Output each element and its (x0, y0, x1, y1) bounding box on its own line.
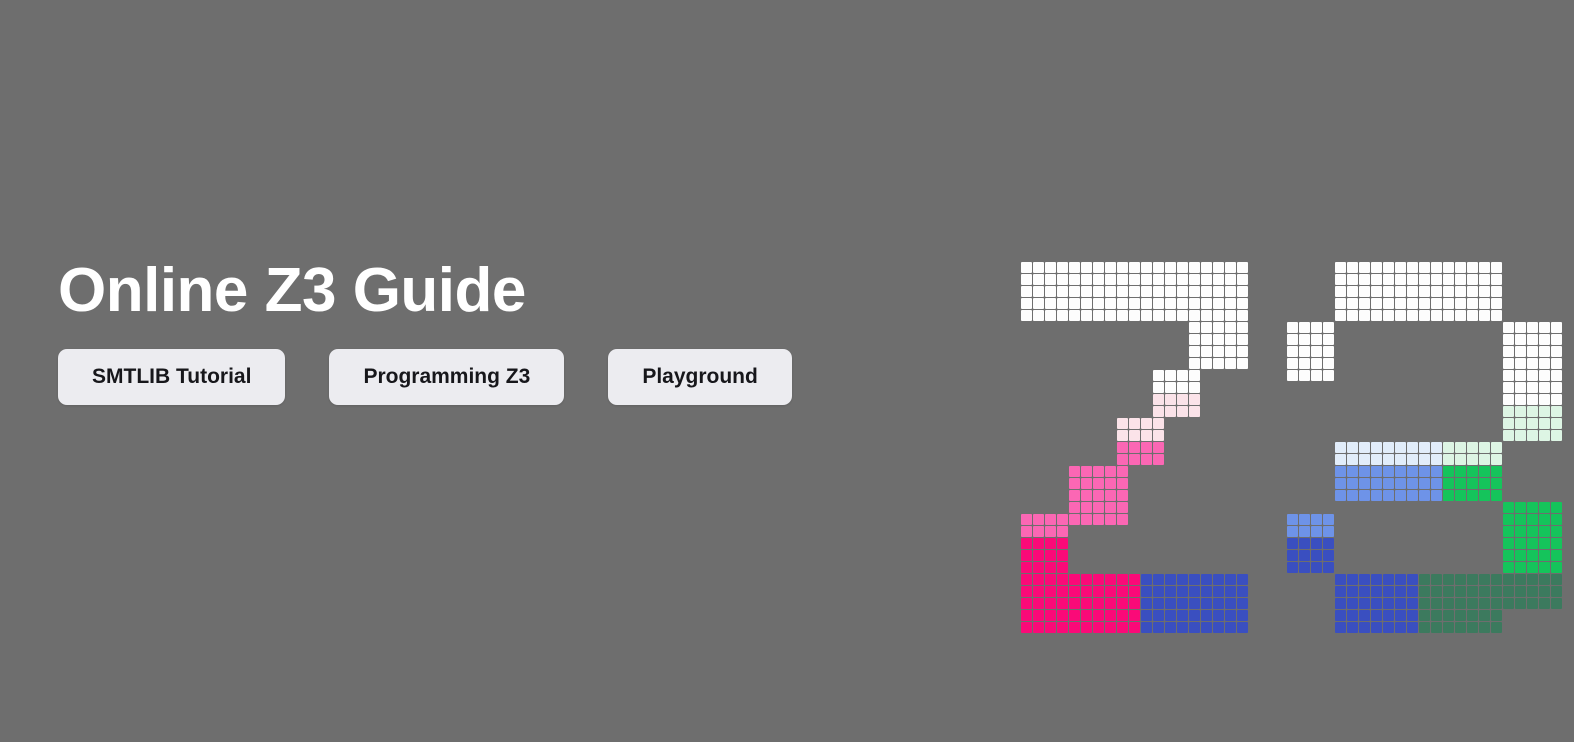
logo-pixel (1117, 586, 1128, 597)
logo-pixel (1141, 298, 1152, 309)
logo-pixel (1371, 490, 1382, 501)
logo-pixel (1033, 550, 1044, 561)
logo-pixel (1237, 322, 1248, 333)
logo-pixel (1527, 394, 1538, 405)
logo-pixel (1189, 322, 1200, 333)
logo-pixel (1129, 310, 1140, 321)
logo-pixel (1141, 442, 1152, 453)
logo-pixel (1467, 274, 1478, 285)
logo-pixel (1225, 610, 1236, 621)
logo-pixel (1515, 598, 1526, 609)
logo-pixel (1153, 262, 1164, 273)
logo-pixel (1395, 490, 1406, 501)
logo-pixel (1503, 430, 1514, 441)
logo-pixel (1299, 562, 1310, 573)
logo-pixel (1419, 622, 1430, 633)
logo-pixel (1395, 454, 1406, 465)
logo-pixel (1287, 526, 1298, 537)
logo-pixel (1371, 598, 1382, 609)
logo-pixel (1395, 598, 1406, 609)
logo-pixel (1237, 610, 1248, 621)
logo-pixel (1551, 514, 1562, 525)
logo-pixel (1081, 478, 1092, 489)
logo-pixel (1347, 610, 1358, 621)
logo-pixel (1551, 418, 1562, 429)
logo-pixel (1335, 598, 1346, 609)
logo-pixel (1503, 382, 1514, 393)
logo-pixel (1407, 310, 1418, 321)
logo-pixel (1335, 466, 1346, 477)
logo-pixel (1347, 466, 1358, 477)
hero-text-block: Online Z3 Guide SMTLIB TutorialProgrammi… (58, 258, 958, 405)
logo-pixel (1165, 274, 1176, 285)
logo-pixel (1431, 610, 1442, 621)
logo-pixel (1491, 454, 1502, 465)
logo-pixel (1371, 454, 1382, 465)
logo-pixel (1105, 298, 1116, 309)
logo-pixel (1407, 586, 1418, 597)
logo-pixel (1213, 274, 1224, 285)
logo-pixel (1491, 586, 1502, 597)
logo-pixel (1225, 622, 1236, 633)
logo-pixel (1359, 274, 1370, 285)
logo-pixel (1105, 262, 1116, 273)
logo-pixel (1021, 574, 1032, 585)
logo-pixel (1045, 526, 1056, 537)
logo-pixel (1189, 610, 1200, 621)
logo-pixel (1117, 610, 1128, 621)
logo-pixel (1177, 298, 1188, 309)
logo-pixel (1371, 574, 1382, 585)
logo-pixel (1419, 310, 1430, 321)
logo-pixel (1347, 586, 1358, 597)
logo-pixel (1201, 610, 1212, 621)
logo-pixel (1419, 262, 1430, 273)
logo-pixel (1225, 574, 1236, 585)
logo-pixel (1033, 622, 1044, 633)
logo-pixel (1323, 334, 1334, 345)
logo-pixel (1419, 586, 1430, 597)
logo-pixel (1165, 382, 1176, 393)
logo-pixel (1201, 346, 1212, 357)
logo-pixel (1033, 514, 1044, 525)
logo-pixel (1479, 610, 1490, 621)
logo-pixel (1201, 622, 1212, 633)
logo-pixel (1021, 610, 1032, 621)
logo-pixel (1189, 406, 1200, 417)
logo-pixel (1117, 430, 1128, 441)
logo-pixel (1479, 586, 1490, 597)
logo-pixel (1431, 574, 1442, 585)
logo-pixel (1225, 262, 1236, 273)
logo-pixel (1371, 298, 1382, 309)
logo-pixel (1539, 574, 1550, 585)
logo-pixel (1069, 574, 1080, 585)
logo-pixel (1359, 610, 1370, 621)
logo-pixel (1069, 610, 1080, 621)
logo-pixel (1407, 478, 1418, 489)
logo-pixel (1287, 514, 1298, 525)
logo-pixel (1479, 490, 1490, 501)
logo-pixel (1201, 262, 1212, 273)
logo-pixel (1371, 610, 1382, 621)
logo-pixel (1539, 370, 1550, 381)
logo-pixel (1189, 298, 1200, 309)
logo-pixel (1177, 598, 1188, 609)
logo-pixel (1407, 622, 1418, 633)
logo-pixel (1153, 430, 1164, 441)
logo-pixel (1045, 262, 1056, 273)
logo-pixel (1141, 430, 1152, 441)
logo-pixel (1383, 598, 1394, 609)
logo-pixel (1287, 334, 1298, 345)
logo-pixel (1419, 574, 1430, 585)
logo-pixel (1491, 478, 1502, 489)
logo-pixel (1213, 358, 1224, 369)
logo-pixel (1165, 574, 1176, 585)
logo-pixel (1069, 478, 1080, 489)
logo-pixel (1455, 298, 1466, 309)
logo-pixel (1189, 358, 1200, 369)
logo-pixel (1237, 286, 1248, 297)
logo-pixel (1165, 286, 1176, 297)
logo-pixel (1033, 598, 1044, 609)
logo-pixel (1335, 574, 1346, 585)
logo-pixel (1431, 586, 1442, 597)
logo-pixel (1395, 610, 1406, 621)
logo-pixel (1491, 490, 1502, 501)
logo-pixel (1551, 586, 1562, 597)
logo-pixel (1359, 442, 1370, 453)
logo-pixel (1069, 310, 1080, 321)
logo-pixel (1347, 490, 1358, 501)
logo-pixel (1467, 466, 1478, 477)
logo-pixel (1057, 598, 1068, 609)
logo-pixel (1153, 586, 1164, 597)
logo-pixel (1189, 622, 1200, 633)
logo-pixel (1105, 274, 1116, 285)
logo-pixel (1225, 346, 1236, 357)
logo-pixel (1237, 598, 1248, 609)
logo-pixel (1503, 370, 1514, 381)
logo-pixel (1129, 622, 1140, 633)
logo-pixel (1551, 550, 1562, 561)
logo-pixel (1141, 310, 1152, 321)
logo-pixel (1455, 454, 1466, 465)
logo-pixel (1503, 502, 1514, 513)
logo-pixel (1225, 598, 1236, 609)
logo-pixel (1359, 286, 1370, 297)
logo-pixel (1117, 286, 1128, 297)
logo-pixel (1455, 610, 1466, 621)
logo-pixel (1153, 574, 1164, 585)
logo-pixel (1299, 358, 1310, 369)
logo-pixel (1503, 358, 1514, 369)
logo-pixel (1503, 574, 1514, 585)
logo-pixel (1371, 586, 1382, 597)
logo-pixel (1467, 490, 1478, 501)
logo-pixel (1177, 406, 1188, 417)
logo-pixel (1311, 562, 1322, 573)
logo-pixel (1539, 382, 1550, 393)
logo-pixel (1347, 274, 1358, 285)
programming-z3-button[interactable]: Programming Z3 (329, 349, 564, 405)
logo-pixel (1117, 502, 1128, 513)
logo-pixel (1287, 358, 1298, 369)
logo-pixel (1359, 262, 1370, 273)
logo-pixel (1395, 286, 1406, 297)
logo-pixel (1335, 310, 1346, 321)
logo-pixel (1539, 502, 1550, 513)
logo-pixel (1129, 298, 1140, 309)
logo-pixel (1527, 526, 1538, 537)
logo-pixel (1395, 622, 1406, 633)
logo-pixel (1287, 562, 1298, 573)
logo-pixel (1165, 406, 1176, 417)
logo-pixel (1539, 394, 1550, 405)
logo-pixel (1455, 586, 1466, 597)
logo-pixel (1371, 286, 1382, 297)
logo-pixel (1395, 442, 1406, 453)
logo-pixel (1455, 466, 1466, 477)
logo-pixel (1153, 274, 1164, 285)
logo-pixel (1225, 586, 1236, 597)
logo-pixel (1551, 346, 1562, 357)
logo-pixel (1515, 370, 1526, 381)
logo-pixel (1177, 274, 1188, 285)
logo-pixel (1033, 610, 1044, 621)
logo-pixel (1033, 538, 1044, 549)
logo-pixel (1033, 262, 1044, 273)
logo-pixel (1045, 574, 1056, 585)
logo-pixel (1443, 310, 1454, 321)
logo-pixel (1395, 262, 1406, 273)
logo-pixel (1213, 310, 1224, 321)
logo-pixel (1225, 334, 1236, 345)
logo-pixel (1539, 526, 1550, 537)
logo-pixel (1347, 454, 1358, 465)
logo-pixel (1443, 454, 1454, 465)
logo-pixel (1323, 526, 1334, 537)
logo-pixel (1539, 586, 1550, 597)
logo-pixel (1527, 370, 1538, 381)
logo-pixel (1443, 622, 1454, 633)
logo-pixel (1335, 286, 1346, 297)
logo-pixel (1093, 610, 1104, 621)
logo-pixel (1057, 286, 1068, 297)
logo-pixel (1129, 430, 1140, 441)
logo-pixel (1347, 598, 1358, 609)
logo-pixel (1189, 310, 1200, 321)
logo-pixel (1311, 358, 1322, 369)
logo-pixel (1093, 586, 1104, 597)
logo-pixel (1539, 358, 1550, 369)
logo-pixel (1189, 286, 1200, 297)
logo-pixel (1467, 298, 1478, 309)
logo-pixel (1527, 550, 1538, 561)
logo-pixel (1117, 454, 1128, 465)
logo-pixel (1515, 586, 1526, 597)
logo-pixel (1467, 454, 1478, 465)
logo-pixel (1467, 262, 1478, 273)
logo-pixel (1311, 370, 1322, 381)
logo-pixel (1093, 310, 1104, 321)
logo-pixel (1201, 298, 1212, 309)
logo-pixel (1515, 322, 1526, 333)
logo-pixel (1093, 274, 1104, 285)
logo-pixel (1491, 310, 1502, 321)
logo-pixel (1201, 598, 1212, 609)
logo-pixel (1165, 586, 1176, 597)
logo-pixel (1189, 346, 1200, 357)
logo-pixel (1491, 466, 1502, 477)
logo-pixel (1045, 274, 1056, 285)
logo-pixel (1021, 598, 1032, 609)
logo-pixel (1539, 514, 1550, 525)
logo-pixel (1503, 334, 1514, 345)
logo-pixel (1069, 514, 1080, 525)
logo-pixel (1165, 370, 1176, 381)
logo-pixel (1455, 490, 1466, 501)
smtlib-tutorial-button[interactable]: SMTLIB Tutorial (58, 349, 285, 405)
logo-pixel (1093, 286, 1104, 297)
logo-pixel (1045, 298, 1056, 309)
logo-pixel (1117, 310, 1128, 321)
logo-pixel (1069, 274, 1080, 285)
logo-pixel (1057, 622, 1068, 633)
logo-pixel (1177, 382, 1188, 393)
logo-pixel (1395, 478, 1406, 489)
logo-pixel (1141, 586, 1152, 597)
logo-pixel (1455, 574, 1466, 585)
logo-pixel (1081, 286, 1092, 297)
logo-pixel (1359, 478, 1370, 489)
logo-pixel (1515, 406, 1526, 417)
logo-pixel (1021, 562, 1032, 573)
logo-pixel (1153, 418, 1164, 429)
logo-pixel (1479, 574, 1490, 585)
logo-pixel (1527, 406, 1538, 417)
logo-pixel (1359, 574, 1370, 585)
logo-pixel (1153, 622, 1164, 633)
logo-pixel (1237, 310, 1248, 321)
logo-pixel (1105, 610, 1116, 621)
logo-pixel (1551, 574, 1562, 585)
logo-pixel (1335, 274, 1346, 285)
logo-pixel (1347, 442, 1358, 453)
logo-pixel (1093, 598, 1104, 609)
logo-pixel (1105, 574, 1116, 585)
logo-pixel (1407, 262, 1418, 273)
logo-pixel (1383, 586, 1394, 597)
logo-pixel (1177, 622, 1188, 633)
logo-pixel (1177, 610, 1188, 621)
logo-pixel (1141, 574, 1152, 585)
logo-pixel (1479, 274, 1490, 285)
logo-pixel (1383, 310, 1394, 321)
logo-pixel (1201, 310, 1212, 321)
logo-pixel (1165, 622, 1176, 633)
logo-pixel (1021, 310, 1032, 321)
logo-pixel (1225, 358, 1236, 369)
logo-pixel (1503, 598, 1514, 609)
logo-pixel (1129, 454, 1140, 465)
logo-pixel (1443, 598, 1454, 609)
logo-pixel (1347, 310, 1358, 321)
logo-pixel (1105, 490, 1116, 501)
logo-pixel (1069, 466, 1080, 477)
logo-pixel (1081, 610, 1092, 621)
logo-pixel (1431, 478, 1442, 489)
logo-pixel (1117, 466, 1128, 477)
logo-pixel (1177, 574, 1188, 585)
logo-pixel (1081, 502, 1092, 513)
logo-pixel (1515, 346, 1526, 357)
logo-pixel (1105, 310, 1116, 321)
logo-pixel (1153, 394, 1164, 405)
logo-pixel (1491, 442, 1502, 453)
logo-pixel (1141, 610, 1152, 621)
logo-pixel (1189, 274, 1200, 285)
logo-pixel (1383, 610, 1394, 621)
logo-pixel (1093, 466, 1104, 477)
logo-pixel (1551, 334, 1562, 345)
logo-pixel (1527, 598, 1538, 609)
logo-pixel (1081, 298, 1092, 309)
logo-pixel (1479, 262, 1490, 273)
logo-pixel (1551, 406, 1562, 417)
playground-button[interactable]: Playground (608, 349, 792, 405)
logo-pixel (1021, 514, 1032, 525)
z3-pixel-logo (1021, 262, 1521, 584)
logo-pixel (1033, 286, 1044, 297)
logo-pixel (1287, 538, 1298, 549)
logo-pixel (1213, 622, 1224, 633)
logo-pixel (1069, 262, 1080, 273)
logo-pixel (1551, 562, 1562, 573)
logo-pixel (1177, 310, 1188, 321)
logo-pixel (1177, 586, 1188, 597)
logo-pixel (1503, 562, 1514, 573)
logo-pixel (1371, 262, 1382, 273)
logo-pixel (1335, 490, 1346, 501)
logo-pixel (1335, 298, 1346, 309)
logo-pixel (1093, 574, 1104, 585)
logo-pixel (1527, 358, 1538, 369)
logo-pixel (1129, 610, 1140, 621)
logo-pixel (1419, 298, 1430, 309)
logo-pixel (1105, 514, 1116, 525)
logo-pixel (1213, 262, 1224, 273)
logo-pixel (1491, 622, 1502, 633)
logo-pixel (1021, 298, 1032, 309)
logo-pixel (1491, 574, 1502, 585)
logo-pixel (1033, 526, 1044, 537)
logo-pixel (1045, 514, 1056, 525)
logo-pixel (1455, 442, 1466, 453)
logo-pixel (1539, 430, 1550, 441)
logo-pixel (1213, 610, 1224, 621)
logo-pixel (1527, 322, 1538, 333)
logo-pixel (1323, 322, 1334, 333)
logo-pixel (1141, 622, 1152, 633)
logo-pixel (1371, 478, 1382, 489)
logo-pixel (1117, 274, 1128, 285)
logo-pixel (1419, 598, 1430, 609)
logo-pixel (1225, 274, 1236, 285)
logo-pixel (1443, 442, 1454, 453)
logo-pixel (1551, 526, 1562, 537)
